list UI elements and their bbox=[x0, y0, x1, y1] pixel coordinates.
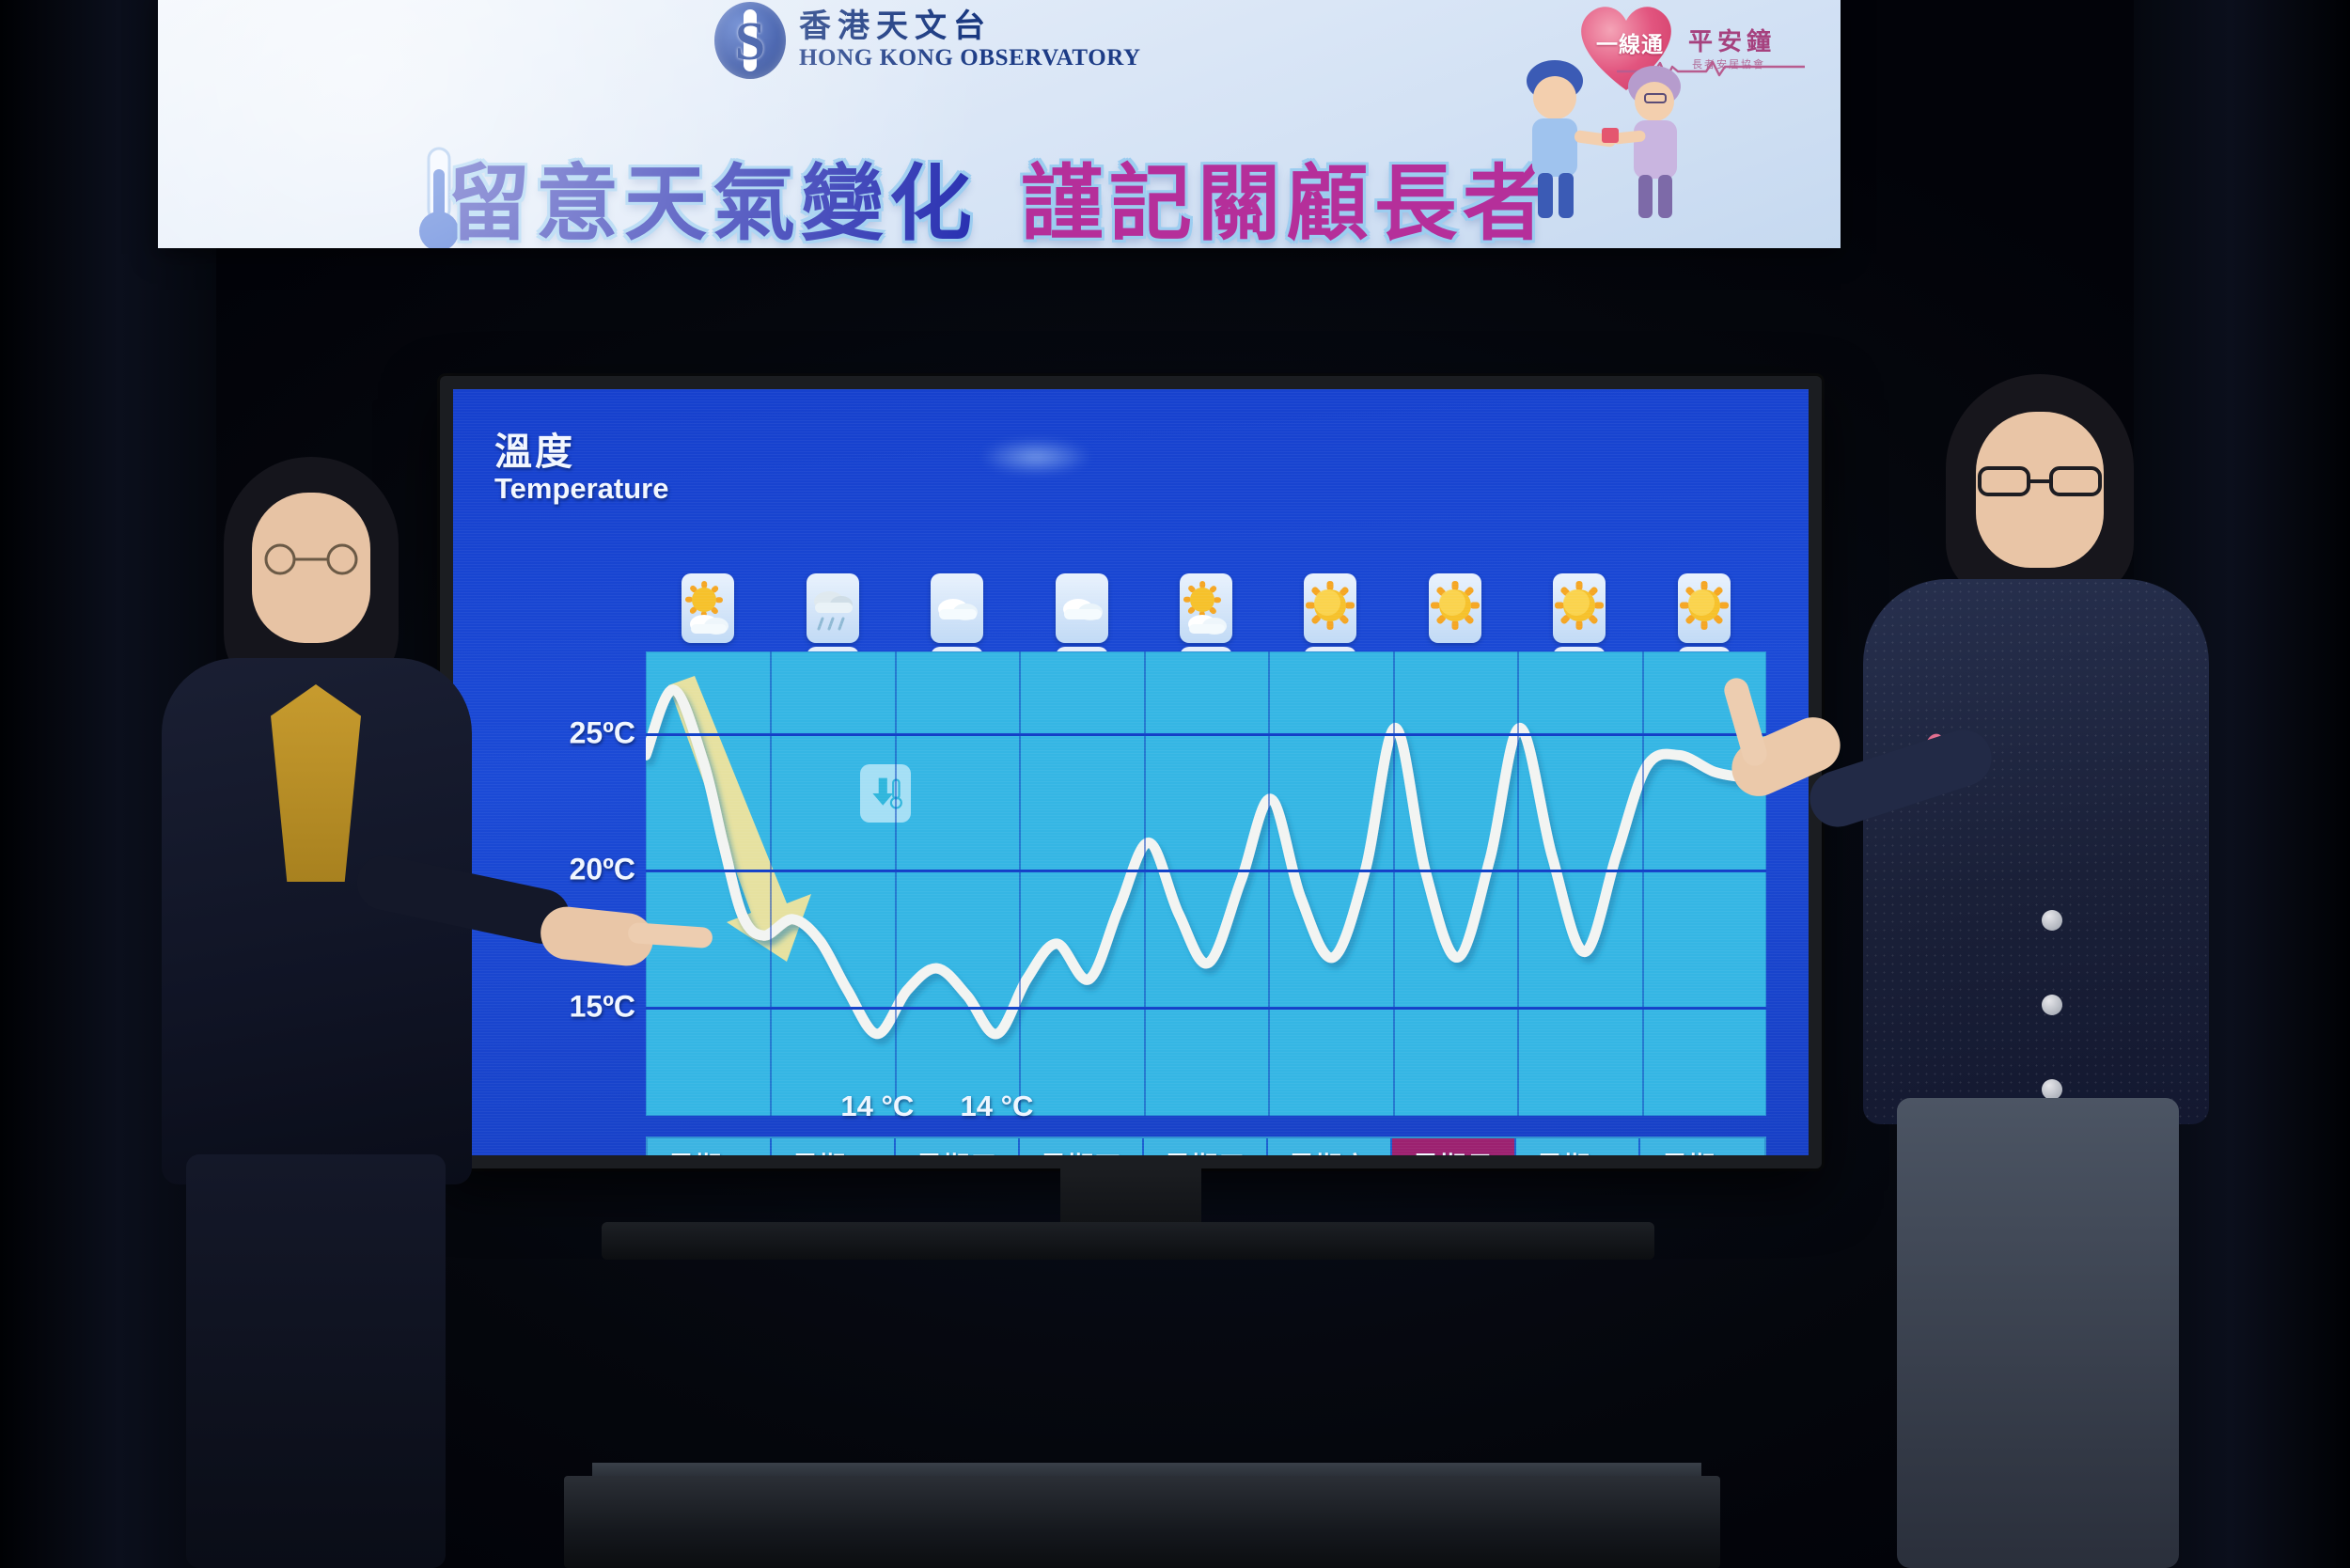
low-temp-annotation: 14 °C bbox=[961, 1090, 1034, 1123]
table-body bbox=[564, 1476, 1720, 1568]
hko-logo-zh: 香港天文台 bbox=[799, 10, 1141, 44]
grid-vline bbox=[770, 651, 772, 1116]
forecast-day-cell[interactable]: 星期六SAT22/11 bbox=[1268, 1138, 1392, 1155]
banner-title-zh-part1: 留意天氣變化 bbox=[447, 137, 978, 248]
forecast-day-table: 星期一MON17/11星期二TUE18/11星期三WED19/11星期四THU2… bbox=[646, 1137, 1766, 1155]
day-label-zh: 星期一 bbox=[667, 1146, 749, 1156]
presenter-left-trousers bbox=[186, 1154, 446, 1568]
grid-vline bbox=[1517, 651, 1519, 1116]
hko-logo-en: HONG KONG OBSERVATORY bbox=[799, 46, 1141, 71]
grid-vline bbox=[1144, 651, 1146, 1116]
banner-title-zh-part2: 謹記關顧長者 bbox=[1021, 137, 1551, 248]
grid-vline bbox=[1393, 651, 1395, 1116]
tv-display: 溫度 Temperature 15ºC20ºC25ºC bbox=[440, 376, 1822, 1168]
jacket-button bbox=[2042, 910, 2062, 931]
sun-icon bbox=[1678, 573, 1731, 643]
grid-vline bbox=[1268, 651, 1270, 1116]
hko-logo-text: 香港天文台 HONG KONG OBSERVATORY bbox=[799, 10, 1141, 71]
low-temp-annotation: 14 °C bbox=[840, 1090, 914, 1123]
forecast-day-cell[interactable]: 星期一MON17/11 bbox=[648, 1138, 772, 1155]
glasses-icon bbox=[254, 543, 368, 575]
day-label-zh: 星期二 bbox=[1661, 1146, 1743, 1156]
y-axis-tick-label: 15ºC bbox=[570, 989, 635, 1024]
elderly-care-icon bbox=[1496, 53, 1703, 227]
glasses-icon bbox=[1974, 464, 2106, 498]
grid-vline bbox=[1642, 651, 1644, 1116]
day-label-zh: 星期三 bbox=[916, 1146, 997, 1156]
forecast-day-cell[interactable]: 星期二TUE18/11 bbox=[772, 1138, 896, 1155]
day-label-zh: 星期五 bbox=[1164, 1146, 1245, 1156]
screen-glare bbox=[979, 438, 1092, 476]
forecast-day-cell[interactable]: 星期四THU20/11 bbox=[1020, 1138, 1144, 1155]
presenter-left-top bbox=[271, 684, 361, 882]
jacket-button bbox=[2042, 1079, 2062, 1100]
weather-forecast-screen: 溫度 Temperature 15ºC20ºC25ºC bbox=[453, 389, 1809, 1155]
chart-title-en: Temperature bbox=[494, 474, 669, 505]
rain-cloud-icon bbox=[807, 573, 859, 643]
grid-hline bbox=[646, 1007, 1766, 1010]
grid-vline bbox=[1019, 651, 1021, 1116]
y-axis-tick-label: 25ºC bbox=[570, 716, 635, 751]
stage: 香港天文台 HONG KONG OBSERVATORY 一線通 平安鐘 長者安居… bbox=[0, 0, 2350, 1568]
hko-logo: 香港天文台 HONG KONG OBSERVATORY bbox=[714, 2, 1141, 79]
presenter-right-trousers bbox=[1897, 1098, 2179, 1568]
day-label-zh: 星期六 bbox=[1288, 1146, 1370, 1156]
forecast-day-cell[interactable]: 星期五FRI21/11 bbox=[1144, 1138, 1268, 1155]
forecast-day-cell[interactable]: 星期二TUE25/11 bbox=[1640, 1138, 1764, 1155]
day-label-zh: 星期四 bbox=[1040, 1146, 1121, 1156]
sun-icon bbox=[1429, 573, 1481, 643]
presenter-right-jacket bbox=[1863, 579, 2209, 1124]
sun-icon bbox=[1304, 573, 1356, 643]
temperature-plot bbox=[646, 651, 1766, 1116]
cloud-icon bbox=[931, 573, 983, 643]
sun-behind-cloud-icon bbox=[1180, 573, 1232, 643]
presenter-right bbox=[1814, 346, 2247, 1568]
grid-hline bbox=[646, 733, 1766, 736]
grid-vline bbox=[895, 651, 897, 1116]
y-axis-tick-label: 20ºC bbox=[570, 853, 635, 887]
forecast-day-cell[interactable]: 星期一MON24/11 bbox=[1516, 1138, 1640, 1155]
event-banner: 香港天文台 HONG KONG OBSERVATORY 一線通 平安鐘 長者安居… bbox=[158, 0, 1841, 248]
presenter-left bbox=[113, 402, 508, 1568]
sun-icon bbox=[1553, 573, 1606, 643]
day-label-zh: 星期一 bbox=[1536, 1146, 1618, 1156]
grid-hline bbox=[646, 870, 1766, 872]
cloud-icon bbox=[1056, 573, 1108, 643]
temperature-drop-icon bbox=[860, 764, 911, 823]
tv-stand-base bbox=[602, 1222, 1654, 1260]
forecast-day-cell[interactable]: 星期三WED19/11 bbox=[896, 1138, 1020, 1155]
day-label-zh: 星期日 bbox=[1412, 1146, 1494, 1156]
temperature-curve bbox=[646, 651, 1766, 1116]
day-label-zh: 星期二 bbox=[791, 1146, 873, 1156]
jacket-button bbox=[2042, 995, 2062, 1015]
chart-title-zh: 溫度 bbox=[494, 432, 669, 472]
forecast-day-cell[interactable]: 星期日SUN23/11 bbox=[1392, 1138, 1516, 1155]
chart-title: 溫度 Temperature bbox=[494, 432, 669, 505]
sun-behind-cloud-icon bbox=[681, 573, 734, 643]
hko-logo-icon bbox=[714, 2, 786, 79]
